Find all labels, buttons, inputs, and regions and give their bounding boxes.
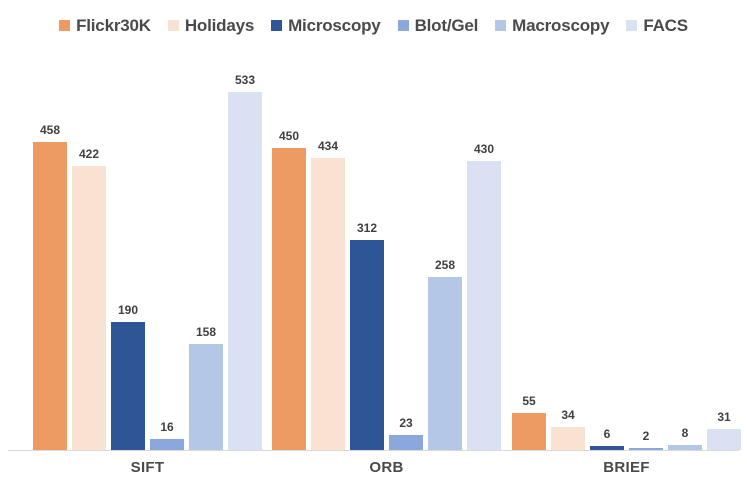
legend-item[interactable]: Microscopy: [271, 17, 380, 34]
legend-swatch-icon: [168, 20, 179, 31]
legend-item[interactable]: Holidays: [168, 17, 254, 34]
bar-value-label: 430: [459, 143, 509, 155]
bar-value-label: 312: [342, 222, 392, 234]
x-axis-category-labels: SIFTORBBRIEF: [0, 458, 747, 488]
category-label-brief: BRIEF: [512, 458, 741, 478]
legend-item-label: FACS: [643, 17, 688, 34]
bar-value-label: 23: [381, 417, 431, 429]
legend-item[interactable]: FACS: [626, 17, 688, 34]
bar[interactable]: [228, 92, 262, 450]
bar[interactable]: [389, 435, 423, 450]
bar[interactable]: [707, 429, 741, 450]
legend-swatch-icon: [59, 20, 70, 31]
legend-item[interactable]: Macroscopy: [495, 17, 609, 34]
legend-item-label: Macroscopy: [512, 17, 609, 34]
chart-legend: Flickr30KHolidaysMicroscopyBlot/GelMacro…: [0, 8, 747, 42]
bar[interactable]: [311, 158, 345, 450]
bar[interactable]: [551, 427, 585, 450]
category-label-orb: ORB: [272, 458, 501, 478]
category-label-sift: SIFT: [33, 458, 262, 478]
bar-value-label: 8: [660, 427, 710, 439]
bar-value-label: 434: [303, 140, 353, 152]
bar[interactable]: [272, 148, 306, 450]
bar-value-label: 533: [220, 74, 270, 86]
legend-swatch-icon: [626, 20, 637, 31]
bar-value-label: 55: [504, 395, 554, 407]
bar-value-label: 258: [420, 259, 470, 271]
legend-item-label: Blot/Gel: [415, 17, 479, 34]
bar[interactable]: [467, 161, 501, 450]
bar[interactable]: [428, 277, 462, 450]
bar[interactable]: [72, 166, 106, 450]
bar-value-label: 458: [25, 124, 75, 136]
x-axis-line: [8, 450, 739, 451]
plot-area: 4584221901615853345043431223258430553462…: [0, 52, 747, 450]
bar[interactable]: [111, 322, 145, 450]
legend-swatch-icon: [271, 20, 282, 31]
bar-value-label: 16: [142, 421, 192, 433]
bar-value-label: 422: [64, 148, 114, 160]
bar[interactable]: [33, 142, 67, 450]
bar[interactable]: [189, 344, 223, 450]
legend-swatch-icon: [398, 20, 409, 31]
bar[interactable]: [150, 439, 184, 450]
bar[interactable]: [350, 240, 384, 450]
legend-item[interactable]: Blot/Gel: [398, 17, 479, 34]
bar[interactable]: [512, 413, 546, 450]
legend-item[interactable]: Flickr30K: [59, 17, 151, 34]
bar-value-label: 31: [699, 411, 747, 423]
legend-item-label: Flickr30K: [76, 17, 151, 34]
bar-chart: Flickr30KHolidaysMicroscopyBlot/GelMacro…: [0, 0, 747, 498]
legend-item-label: Microscopy: [288, 17, 380, 34]
legend-swatch-icon: [495, 20, 506, 31]
legend-item-label: Holidays: [185, 17, 254, 34]
bar-value-label: 158: [181, 326, 231, 338]
bar-value-label: 34: [543, 409, 593, 421]
bar-value-label: 190: [103, 304, 153, 316]
